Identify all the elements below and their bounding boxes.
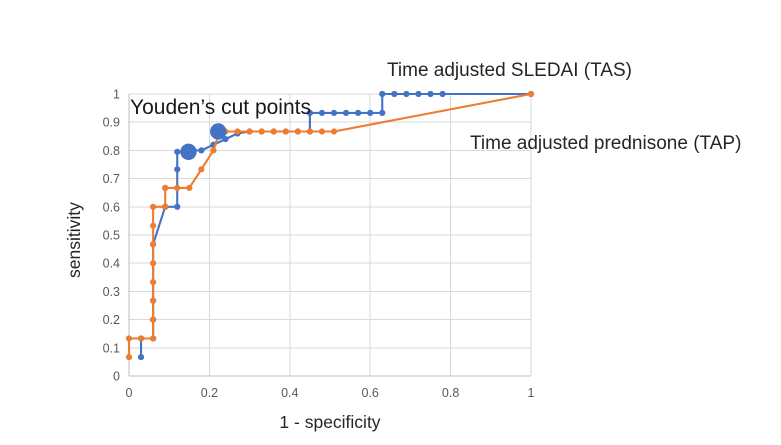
y-axis-title: sensitivity: [64, 202, 84, 278]
data-point-marker: [138, 335, 144, 341]
data-point-marker: [150, 279, 156, 285]
data-point-marker: [319, 110, 325, 116]
data-point-marker: [150, 223, 156, 229]
data-point-marker: [391, 91, 397, 97]
data-point-marker: [150, 317, 156, 323]
data-point-marker: [331, 110, 337, 116]
y-tick-label: 0.9: [103, 116, 120, 130]
x-axis-title: 1 - specificity: [279, 412, 380, 432]
data-point-marker: [198, 147, 204, 153]
data-point-marker: [150, 204, 156, 210]
chart-canvas: 00.20.40.60.81 00.10.20.30.40.50.60.70.8…: [0, 0, 781, 445]
data-point-marker: [307, 128, 313, 134]
x-tick-label: 1: [528, 386, 535, 400]
series-label-tap: Time adjusted prednisone (TAP): [470, 133, 741, 154]
y-tick-label: 0.7: [103, 172, 120, 186]
data-point-marker: [379, 91, 385, 97]
series-label-tas: Time adjusted SLEDAI (TAS): [387, 60, 632, 81]
youden-cut-point-marker: [180, 144, 196, 160]
data-point-marker: [379, 110, 385, 116]
data-point-marker: [126, 335, 132, 341]
y-tick-label: 0.8: [103, 144, 120, 158]
data-point-marker: [234, 128, 240, 134]
data-point-marker: [162, 185, 168, 191]
x-tick-label: 0.2: [201, 386, 218, 400]
x-tick-labels-group: 00.20.40.60.81: [126, 386, 535, 400]
data-point-marker: [150, 298, 156, 304]
data-point-marker: [439, 91, 445, 97]
data-point-marker: [174, 149, 180, 155]
data-point-marker: [174, 166, 180, 172]
data-point-marker: [174, 204, 180, 210]
x-tick-label: 0.6: [362, 386, 379, 400]
y-tick-label: 0.1: [103, 341, 120, 355]
x-tick-label: 0: [126, 386, 133, 400]
data-point-marker: [126, 354, 132, 360]
y-tick-label: 0.5: [103, 229, 120, 243]
data-point-marker: [150, 260, 156, 266]
data-point-marker: [174, 185, 180, 191]
data-point-marker: [150, 335, 156, 341]
youden-cut-points-annotation: Youden’s cut points: [130, 96, 311, 119]
y-tick-label: 0: [113, 370, 120, 384]
data-point-marker: [415, 91, 421, 97]
y-tick-label: 0.3: [103, 285, 120, 299]
roc-chart: 00.20.40.60.81 00.10.20.30.40.50.60.70.8…: [0, 0, 781, 445]
data-point-marker: [367, 110, 373, 116]
data-point-marker: [210, 147, 216, 153]
data-point-marker: [186, 185, 192, 191]
youden-cut-point-marker: [210, 123, 226, 139]
x-tick-label: 0.8: [442, 386, 459, 400]
y-tick-label: 0.2: [103, 313, 120, 327]
data-point-marker: [355, 110, 361, 116]
x-tick-label: 0.4: [281, 386, 298, 400]
data-point-marker: [138, 354, 144, 360]
data-point-marker: [331, 128, 337, 134]
y-tick-label: 0.4: [103, 257, 120, 271]
data-point-marker: [283, 128, 289, 134]
data-point-marker: [343, 110, 349, 116]
data-point-marker: [403, 91, 409, 97]
data-point-marker: [295, 128, 301, 134]
data-point-marker: [528, 91, 534, 97]
data-point-marker: [198, 166, 204, 172]
data-point-marker: [247, 128, 253, 134]
data-point-marker: [259, 128, 265, 134]
y-tick-labels-group: 00.10.20.30.40.50.60.70.80.91: [103, 88, 120, 384]
data-point-marker: [427, 91, 433, 97]
data-point-marker: [319, 128, 325, 134]
data-point-marker: [271, 128, 277, 134]
data-point-marker: [150, 241, 156, 247]
y-tick-label: 1: [113, 88, 120, 102]
y-tick-label: 0.6: [103, 200, 120, 214]
data-point-marker: [162, 204, 168, 210]
